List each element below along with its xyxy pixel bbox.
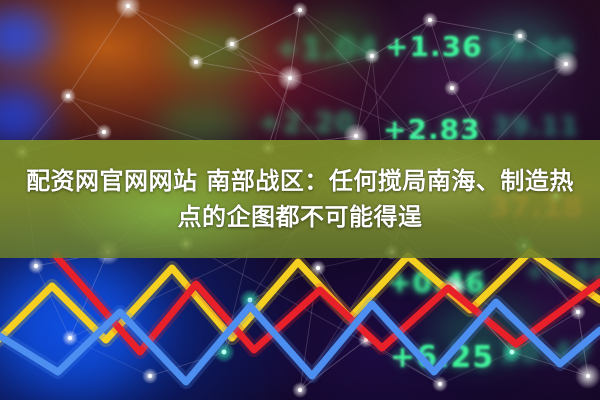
mesh-node	[34, 264, 38, 268]
mesh-line	[430, 20, 520, 36]
mesh-line	[366, 340, 440, 384]
mesh-line	[520, 36, 566, 64]
mesh-line	[224, 300, 250, 352]
page-title: 配资网官网网站 南部战区：任何搅局南海、制造热点的企图都不可能得逞	[0, 163, 600, 235]
chart-line-glow	[0, 302, 600, 382]
mesh-node-glow	[96, 124, 112, 140]
mesh-line	[372, 20, 430, 56]
mesh-node	[298, 388, 302, 392]
ticker-value: +3.50	[525, 258, 600, 286]
mesh-node-glow	[239, 289, 261, 311]
mesh-line	[268, 78, 290, 148]
mesh-node	[586, 374, 590, 378]
mesh-node	[102, 130, 106, 134]
mesh-line	[232, 44, 290, 78]
mesh-node	[194, 60, 198, 64]
mesh-node-glow	[358, 332, 374, 348]
mesh-line	[578, 312, 588, 376]
mesh-line	[300, 340, 366, 390]
mesh-node	[148, 374, 152, 378]
mesh-node-glow	[292, 2, 308, 18]
mesh-node-glow	[60, 88, 76, 104]
mesh-line	[440, 352, 512, 384]
mesh-node	[510, 350, 515, 355]
mesh-node-glow	[28, 258, 44, 274]
mesh-node	[222, 350, 227, 355]
mesh-line	[36, 266, 70, 338]
mesh-line	[150, 352, 224, 376]
mesh-line	[452, 36, 520, 88]
mesh-node-glow	[292, 382, 308, 398]
mesh-node	[126, 4, 130, 8]
chart-line	[0, 252, 600, 348]
ticker-value: +1.36	[385, 30, 483, 63]
mesh-line	[68, 6, 128, 96]
mesh-node-glow	[575, 363, 600, 389]
mesh-line	[356, 56, 372, 136]
mesh-node-glow	[444, 80, 460, 96]
mesh-line	[290, 10, 300, 78]
mesh-line	[70, 338, 150, 376]
ticker-value: 39.11	[492, 112, 579, 142]
mesh-node	[452, 286, 456, 290]
mesh-line	[196, 62, 290, 78]
glow-blob	[0, 10, 52, 64]
mesh-node-glow	[62, 330, 78, 346]
mesh-node-glow	[277, 65, 303, 91]
mesh-node	[518, 34, 522, 38]
mesh-node	[66, 94, 70, 98]
mesh-node	[354, 134, 358, 138]
mesh-node-glow	[310, 260, 326, 276]
ticker-value: +0.46	[388, 266, 486, 299]
mesh-node	[298, 8, 302, 12]
glow-blob	[0, 262, 150, 392]
mesh-node-glow	[422, 12, 438, 28]
mesh-line	[512, 312, 578, 352]
mesh-node-glow	[224, 36, 240, 52]
glow-blob	[170, 24, 256, 80]
mesh-node-glow	[188, 54, 204, 70]
mesh-line	[300, 10, 372, 56]
mesh-node	[248, 298, 253, 303]
ticker-value: +6.25	[390, 340, 494, 375]
mesh-line	[300, 268, 318, 390]
mesh-line	[290, 56, 372, 78]
mesh-node	[364, 338, 368, 342]
glow-blob	[298, 14, 376, 64]
mesh-node	[450, 86, 454, 90]
chart-line-glow	[56, 256, 600, 352]
mesh-line	[232, 10, 300, 44]
mesh-node-glow	[213, 341, 235, 363]
mesh-node	[288, 76, 292, 80]
chart-line	[56, 256, 600, 352]
mesh-line	[430, 20, 452, 88]
mesh-node-glow	[553, 51, 579, 77]
mesh-node	[316, 266, 320, 270]
mesh-line	[196, 44, 232, 62]
mesh-line	[250, 268, 318, 300]
mesh-line	[70, 252, 108, 338]
chart-line	[0, 302, 600, 382]
ticker-value: +2.20	[258, 106, 356, 139]
mesh-node-glow	[441, 275, 467, 301]
mesh-line	[454, 288, 512, 352]
mesh-line	[68, 96, 104, 132]
mesh-line	[512, 352, 588, 376]
mesh-node	[428, 18, 432, 22]
mesh-node-glow	[501, 341, 523, 363]
mesh-line	[452, 88, 490, 148]
mesh-line	[196, 10, 300, 62]
glow-blob	[0, 86, 52, 146]
ticker-value: +1.04	[275, 32, 379, 67]
mesh-node-glow	[432, 376, 448, 392]
ticker-value: 20.47	[500, 336, 594, 369]
mesh-line	[128, 6, 196, 62]
mesh-node-glow	[570, 304, 586, 320]
mesh-line	[318, 268, 366, 340]
mesh-node	[370, 54, 374, 58]
glow-blob	[430, 300, 540, 362]
promo-banner: +1.04+1.3655.00+2.20+2.8339.1137.18+0.46…	[0, 0, 600, 400]
mesh-node	[564, 62, 568, 66]
chart-line-glow	[0, 252, 600, 348]
ticker-value: 55.00	[487, 35, 574, 65]
mesh-node-glow	[364, 48, 380, 64]
mesh-node-glow	[115, 0, 141, 19]
mesh-node	[576, 310, 580, 314]
mesh-line	[490, 64, 566, 148]
mesh-node-glow	[142, 368, 158, 384]
mesh-node	[230, 42, 234, 46]
glow-blob	[470, 18, 566, 74]
mesh-node	[438, 382, 442, 386]
mesh-node	[68, 336, 72, 340]
mesh-node-glow	[512, 28, 528, 44]
